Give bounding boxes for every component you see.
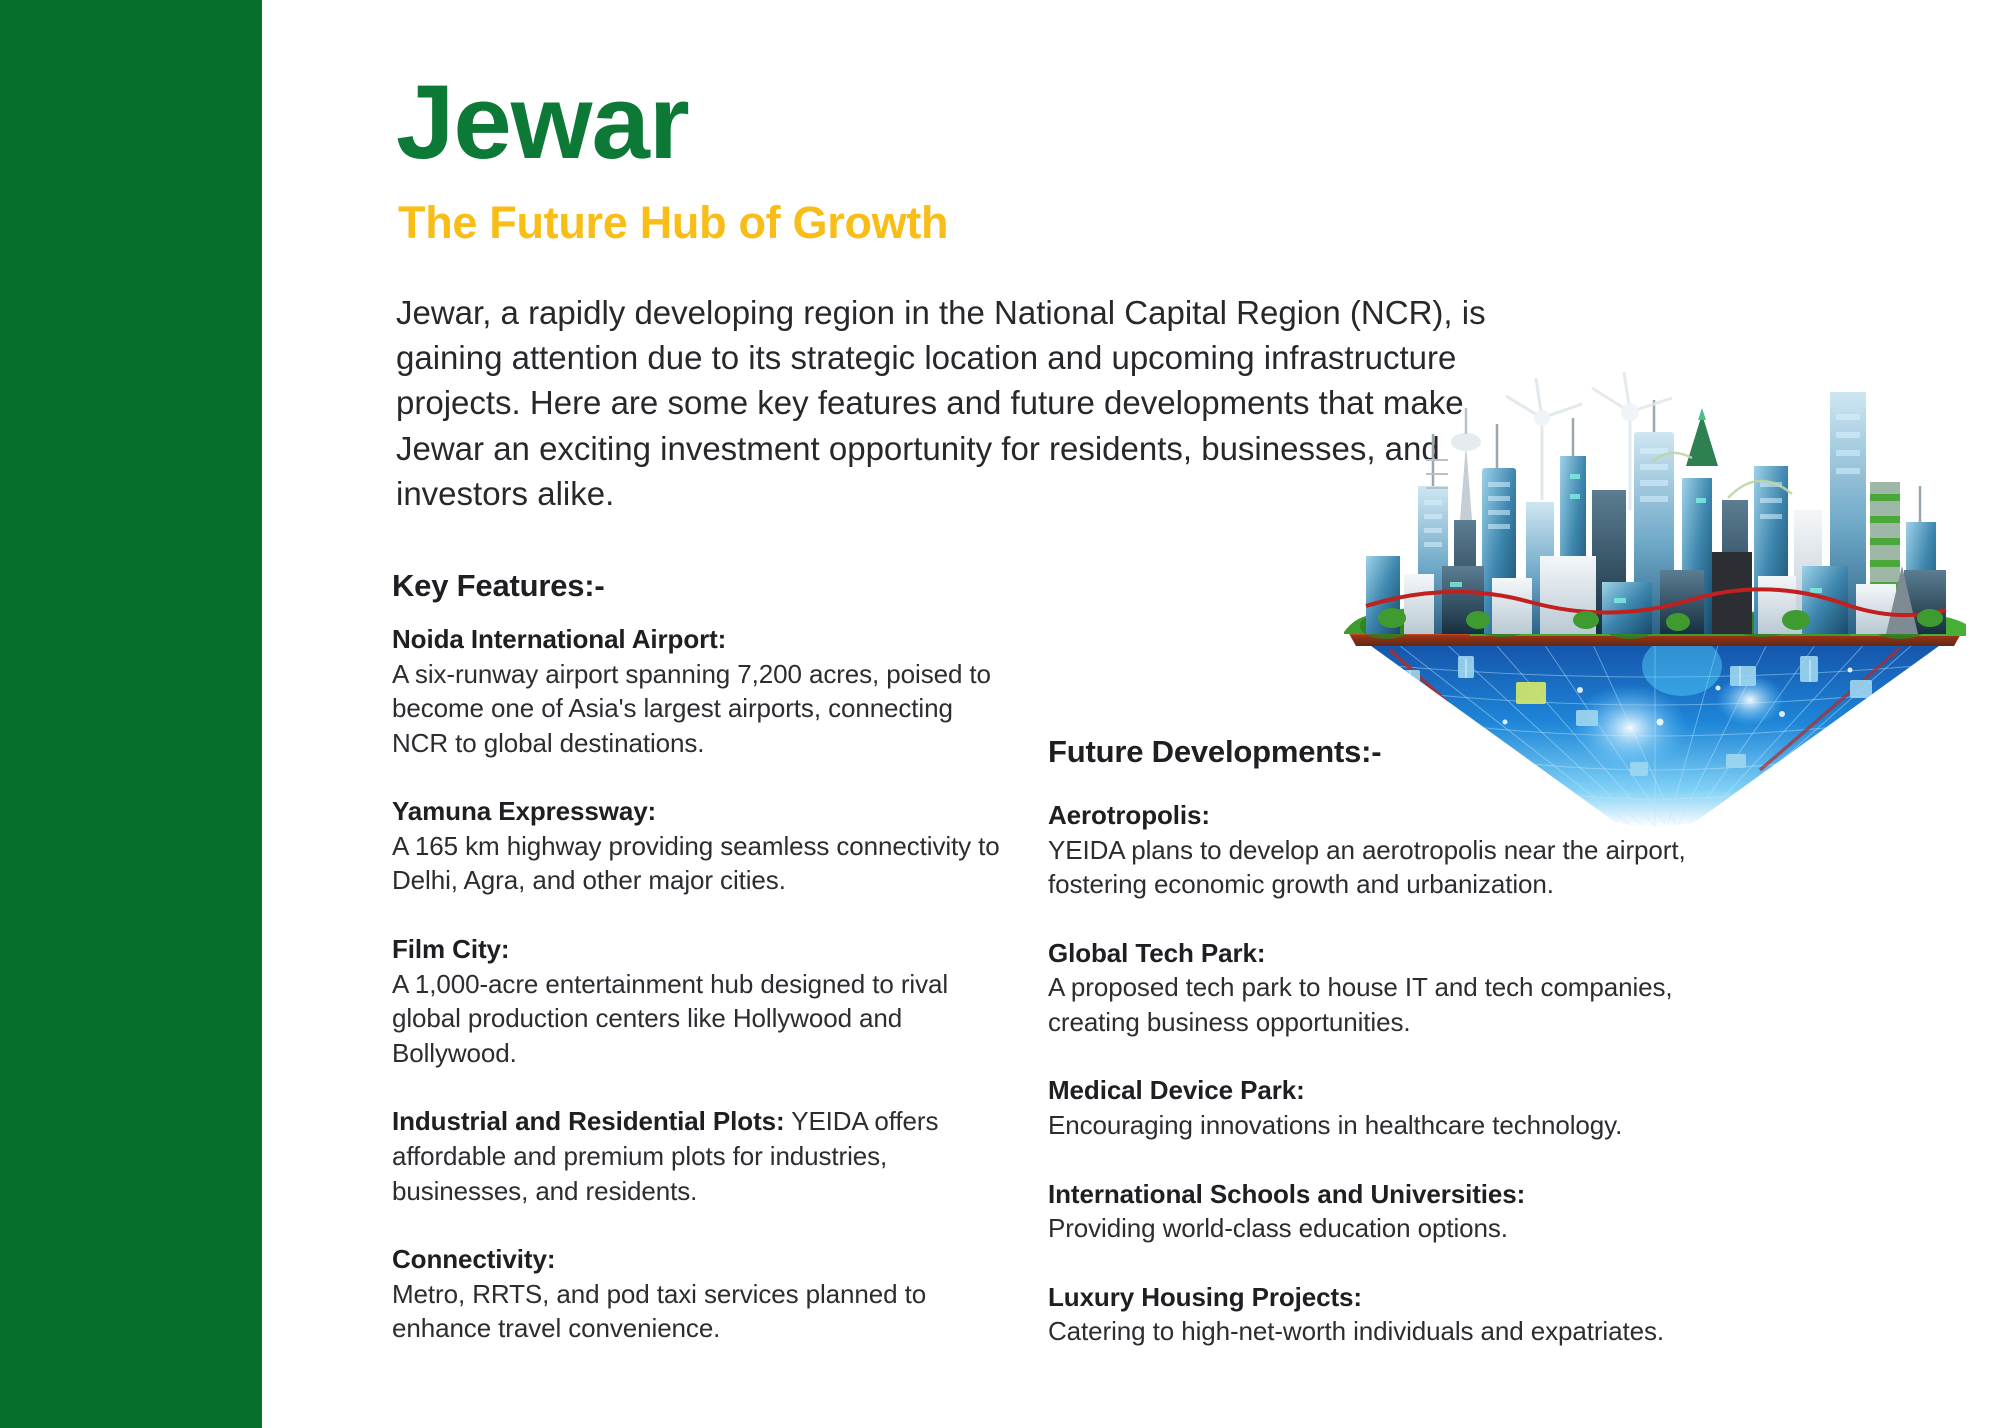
feature-body: Encouraging innovations in healthcare te…	[1048, 1108, 1748, 1143]
feature-body: Metro, RRTS, and pod taxi services plann…	[392, 1277, 1012, 1346]
poster-page: Jewar The Future Hub of Growth Jewar, a …	[0, 0, 2000, 1428]
feature-title: Medical Device Park:	[1048, 1073, 1748, 1108]
feature-block: Film City:A 1,000-acre entertainment hub…	[392, 932, 1012, 1070]
feature-body: A 165 km highway providing seamless conn…	[392, 829, 1012, 898]
feature-title: Luxury Housing Projects:	[1048, 1280, 1748, 1315]
floating-smart-city-illustration	[1330, 370, 1980, 830]
feature-block: Yamuna Expressway:A 165 km highway provi…	[392, 794, 1012, 898]
feature-block: Luxury Housing Projects:Catering to high…	[1048, 1280, 1748, 1349]
feature-block: Global Tech Park:A proposed tech park to…	[1048, 936, 1748, 1040]
page-subtitle: The Future Hub of Growth	[398, 200, 948, 245]
feature-body: Catering to high-net-worth individuals a…	[1048, 1314, 1748, 1349]
feature-title: Film City:	[392, 932, 1012, 967]
feature-block: Medical Device Park:Encouraging innovati…	[1048, 1073, 1748, 1142]
feature-block: International Schools and Universities:P…	[1048, 1177, 1748, 1246]
feature-body: A 1,000-acre entertainment hub designed …	[392, 967, 1012, 1071]
feature-title: International Schools and Universities:	[1048, 1177, 1748, 1212]
feature-title: Global Tech Park:	[1048, 936, 1748, 971]
key-features-list: Noida International Airport:A six-runway…	[392, 622, 1012, 1346]
key-features-heading: Key Features:-	[392, 568, 605, 604]
feature-title: Connectivity:	[392, 1242, 1012, 1277]
feature-block: Industrial and Residential Plots: YEIDA …	[392, 1104, 1012, 1208]
future-developments-list: Aerotropolis:YEIDA plans to develop an a…	[1048, 798, 1748, 1349]
page-title: Jewar	[396, 70, 689, 175]
feature-title: Noida International Airport:	[392, 622, 1012, 657]
feature-title: Industrial and Residential Plots:	[392, 1106, 785, 1136]
feature-body: Providing world-class education options.	[1048, 1211, 1748, 1246]
left-green-band	[0, 0, 262, 1428]
feature-body: A six-runway airport spanning 7,200 acre…	[392, 657, 1012, 761]
feature-block: Noida International Airport:A six-runway…	[392, 622, 1012, 760]
feature-body: YEIDA plans to develop an aerotropolis n…	[1048, 833, 1748, 902]
feature-title: Yamuna Expressway:	[392, 794, 1012, 829]
feature-block: Connectivity:Metro, RRTS, and pod taxi s…	[392, 1242, 1012, 1346]
feature-body: A proposed tech park to house IT and tec…	[1048, 970, 1748, 1039]
